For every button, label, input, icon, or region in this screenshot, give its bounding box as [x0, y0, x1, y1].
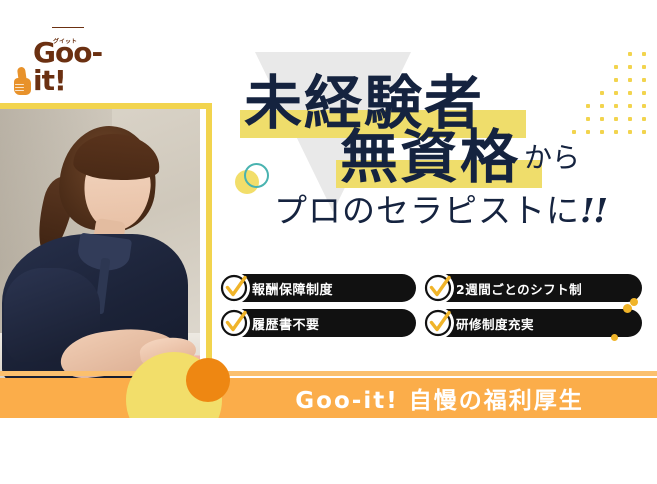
badge-label: 研修制度充実 — [456, 314, 534, 333]
check-circle-icon — [422, 272, 454, 304]
thumbs-up-icon — [12, 65, 32, 95]
logo-kana-text: グイット — [53, 29, 77, 54]
badge-row-2: 履歴書不要 研修制度充実 — [222, 309, 652, 337]
headline-line-3-text: プロのセラピストに!! — [274, 193, 652, 229]
bottom-whitespace — [0, 418, 657, 484]
logo-wordmark: グイット Goo-it! — [33, 39, 122, 95]
banner-ad-canvas: グイット Goo-it! 未経験者 無資格から プロのセラピストに! — [0, 0, 657, 484]
feature-badge-group: 報酬保障制度 2週間ごとのシフト制 — [222, 274, 652, 344]
badge-training-program[interactable]: 研修制度充実 — [426, 309, 642, 337]
bottom-bar-accent-stripe — [0, 371, 657, 376]
badge-label: 履歴書不要 — [252, 314, 320, 333]
goo-it-logo[interactable]: グイット Goo-it! — [12, 55, 122, 95]
headline-block: 未経験者 無資格から プロのセラピストに!! — [232, 74, 652, 244]
check-circle-icon — [218, 307, 250, 339]
yellow-dot-decoration — [630, 298, 638, 306]
check-circle-icon — [422, 307, 454, 339]
headline-line-3: プロのセラピストに!! — [232, 193, 652, 229]
check-circle-icon — [218, 272, 250, 304]
bottom-banner-text: Goo-it! 自慢の福利厚生 — [222, 378, 657, 418]
badge-reward-guarantee[interactable]: 報酬保障制度 — [222, 274, 416, 302]
badge-row-1: 報酬保障制度 2週間ごとのシフト制 — [222, 274, 652, 302]
yellow-dot-decoration — [623, 304, 632, 313]
badge-no-resume[interactable]: 履歴書不要 — [222, 309, 416, 337]
badge-label: 2週間ごとのシフト制 — [456, 279, 582, 298]
badge-label: 報酬保障制度 — [252, 279, 333, 298]
badge-biweekly-shift[interactable]: 2週間ごとのシフト制 — [426, 274, 642, 302]
headline-exclamation: !! — [580, 191, 607, 230]
headline-line-2: 無資格から — [232, 128, 652, 187]
teal-circle-outline-decoration — [244, 163, 269, 188]
headline-line-2-text: 無資格から — [340, 128, 652, 187]
logo-kana-underline — [52, 27, 84, 28]
yellow-dot-decoration — [611, 334, 618, 341]
headline-line-2-suffix: から — [524, 141, 580, 174]
